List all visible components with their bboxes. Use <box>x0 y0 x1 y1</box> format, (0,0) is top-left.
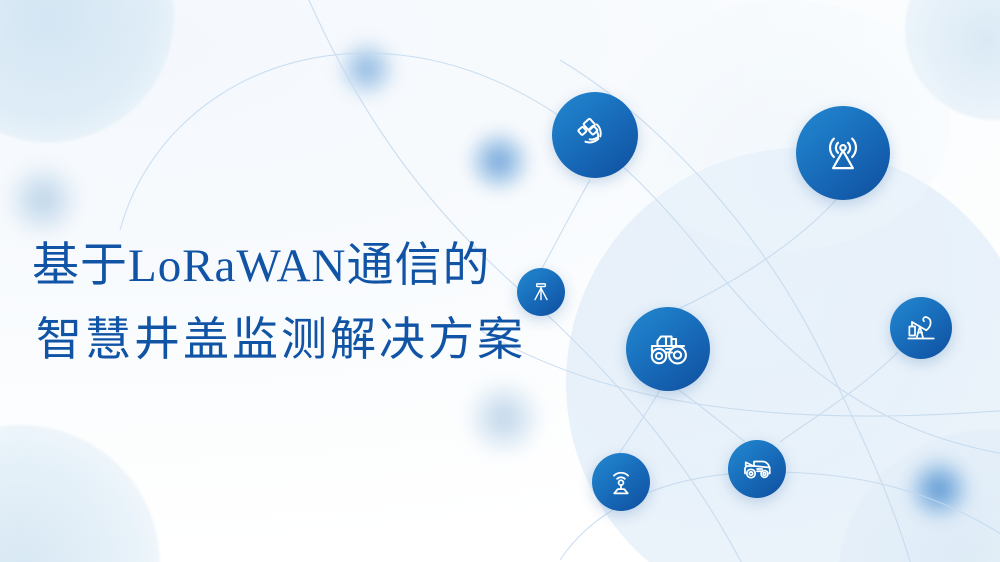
network-sphere-secondary <box>620 0 950 250</box>
accent-dot-3 <box>8 165 78 235</box>
node-satellite[interactable] <box>552 92 638 178</box>
accent-dot-5 <box>908 458 970 520</box>
oil-pumpjack-icon <box>903 310 939 346</box>
background-circle-top-right <box>905 0 1000 120</box>
node-tractor[interactable] <box>626 307 710 391</box>
wireless-sensor-icon <box>604 465 638 499</box>
accent-dot-1 <box>338 40 396 98</box>
title-line-2: 智慧井盖监测解决方案 <box>32 306 592 373</box>
accent-dot-4 <box>468 382 540 454</box>
node-oilpump[interactable] <box>890 297 952 359</box>
accent-dot-2 <box>468 130 530 192</box>
node-harvester[interactable] <box>728 440 786 498</box>
background-circle-bottom-left <box>0 425 160 562</box>
title-block: 基于LoRaWAN通信的 智慧井盖监测解决方案 <box>32 232 592 373</box>
title-line-1: 基于LoRaWAN通信的 <box>32 232 592 300</box>
harvester-icon <box>739 451 775 487</box>
node-antenna[interactable] <box>796 106 890 200</box>
background-circle-top-left <box>0 0 174 142</box>
node-sensor[interactable] <box>592 453 650 511</box>
background-circle-bottom-right <box>838 430 1000 562</box>
satellite-dish-icon <box>572 112 618 158</box>
cover-slide: 基于LoRaWAN通信的 智慧井盖监测解决方案 <box>0 0 1000 562</box>
tractor-icon <box>644 325 692 373</box>
radio-tower-icon <box>818 128 868 178</box>
